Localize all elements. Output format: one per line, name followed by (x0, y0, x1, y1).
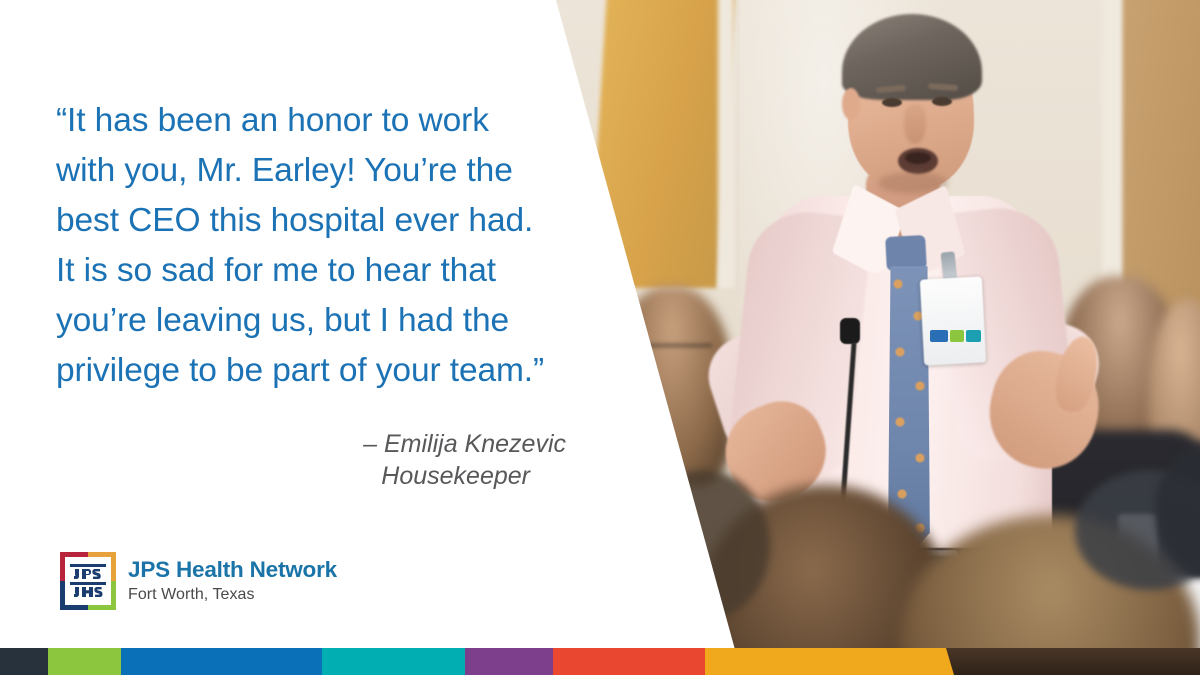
testimonial-card: “It has been an honor to work with you, … (0, 0, 1200, 675)
color-bar-segment-green (48, 648, 121, 675)
lapel-microphone-icon (840, 318, 860, 344)
eye-right (932, 97, 952, 106)
content-area: “It has been an honor to work with you, … (0, 0, 620, 675)
hair (842, 14, 982, 100)
badge-logo-blue (930, 330, 948, 342)
quote-line-1: “It has been an honor to work (56, 96, 576, 146)
logo-organization-name: JPS Health Network (128, 557, 337, 583)
color-bar-segment-purple (465, 648, 553, 675)
quote-line-3: best CEO this hospital ever had. (56, 196, 576, 246)
id-badge (920, 276, 986, 365)
nose (904, 104, 926, 144)
badge-logo-teal (966, 330, 981, 342)
quote-line-4: It is so sad for me to hear that (56, 246, 576, 296)
jps-logo-mark-icon (60, 552, 116, 610)
ear (842, 88, 860, 120)
badge-logo-green (950, 330, 964, 342)
eye-left (882, 98, 902, 107)
quote-attribution: – Emilija Knezevic Housekeeper (56, 428, 566, 492)
mouth-interior (905, 152, 931, 164)
wooden-door-right (1120, 0, 1200, 320)
testimonial-quote: “It has been an honor to work with you, … (56, 96, 576, 396)
logo-mark-letters (65, 557, 111, 605)
quote-line-5: you’re leaving us, but I had the (56, 296, 576, 346)
logo-wordmark: JPS Health Network Fort Worth, Texas (128, 557, 337, 605)
quote-line-2: with you, Mr. Earley! You’re the (56, 146, 576, 196)
jps-health-network-logo: JPS Health Network Fort Worth, Texas (60, 552, 337, 610)
color-bar-segment-blue (121, 648, 322, 675)
color-bar-segment-navy (0, 648, 48, 675)
attribution-role: Housekeeper (56, 460, 566, 492)
color-bar-segment-teal (322, 648, 465, 675)
color-bar-segment-red (553, 648, 705, 675)
quote-line-6: privilege to be part of your team.” (56, 346, 576, 396)
attribution-name: – Emilija Knezevic (56, 428, 566, 460)
tie-knot (885, 235, 927, 271)
logo-tagline: Fort Worth, Texas (128, 584, 337, 605)
